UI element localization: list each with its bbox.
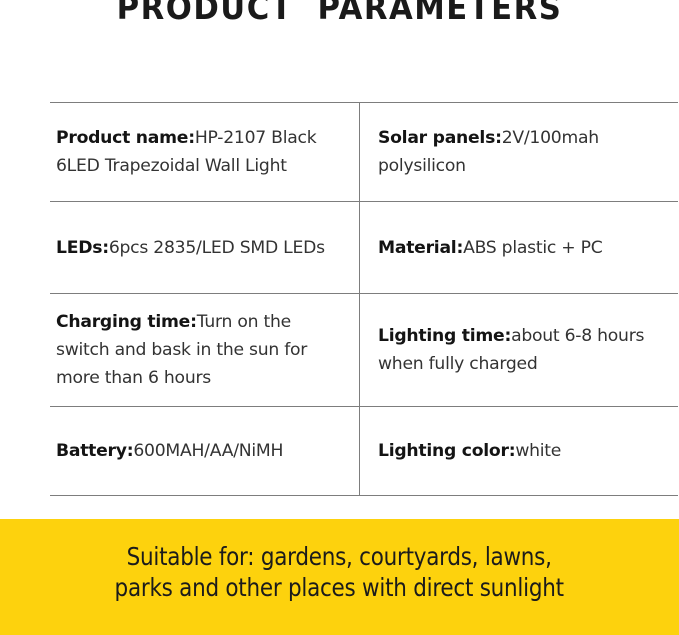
spec-value: 6pcs 2835/LED SMD LEDs	[109, 238, 325, 258]
table-row: Product name:HP-2107 Black 6LED Trapezoi…	[50, 103, 678, 202]
page-title: PRODUCT PARAMETERS	[24, 0, 655, 28]
table-row: LEDs:6pcs 2835/LED SMD LEDs Material:ABS…	[50, 202, 678, 294]
table-row: Battery:600MAH/AA/NiMH Lighting color:wh…	[50, 407, 678, 496]
product-parameters-table: Product name:HP-2107 Black 6LED Trapezoi…	[50, 102, 678, 496]
spec-cell-charging-time: Charging time:Turn on the switch and bas…	[50, 294, 360, 407]
spec-separator: :	[188, 128, 195, 148]
spec-key: Product name	[56, 128, 188, 148]
usage-banner: Suitable for: gardens, courtyards, lawns…	[0, 519, 679, 635]
spec-value: 600MAH/AA/NiMH	[133, 441, 283, 461]
usage-banner-line-2: parks and other places with direct sunli…	[115, 572, 564, 603]
spec-cell-lighting-color: Lighting color:white	[360, 407, 679, 496]
spec-cell-lighting-time: Lighting time:about 6-8 hours when fully…	[360, 294, 679, 407]
table-row: Charging time:Turn on the switch and bas…	[50, 294, 678, 407]
spec-key: Charging time	[56, 312, 190, 332]
spec-cell-product-name: Product name:HP-2107 Black 6LED Trapezoi…	[50, 103, 360, 202]
spec-separator: :	[495, 128, 502, 148]
spec-key: LEDs	[56, 238, 102, 258]
spec-cell-material: Material:ABS plastic + PC	[360, 202, 679, 294]
usage-banner-line-1: Suitable for: gardens, courtyards, lawns…	[115, 541, 564, 572]
usage-banner-text: Suitable for: gardens, courtyards, lawns…	[115, 541, 564, 613]
spec-separator: :	[102, 238, 109, 258]
spec-cell-leds: LEDs:6pcs 2835/LED SMD LEDs	[50, 202, 360, 294]
spec-key: Material	[378, 238, 456, 258]
spec-value: ABS plastic + PC	[463, 238, 602, 258]
spec-key: Lighting color	[378, 441, 509, 461]
spec-separator: :	[190, 312, 197, 332]
page-title-area: PRODUCT PARAMETERS	[0, 0, 679, 46]
spec-cell-battery: Battery:600MAH/AA/NiMH	[50, 407, 360, 496]
spec-value: white	[515, 441, 561, 461]
spec-key: Battery	[56, 441, 127, 461]
spec-key: Lighting time	[378, 326, 504, 346]
spec-cell-solar-panels: Solar panels:2V/100mah polysilicon	[360, 103, 679, 202]
spec-key: Solar panels	[378, 128, 495, 148]
